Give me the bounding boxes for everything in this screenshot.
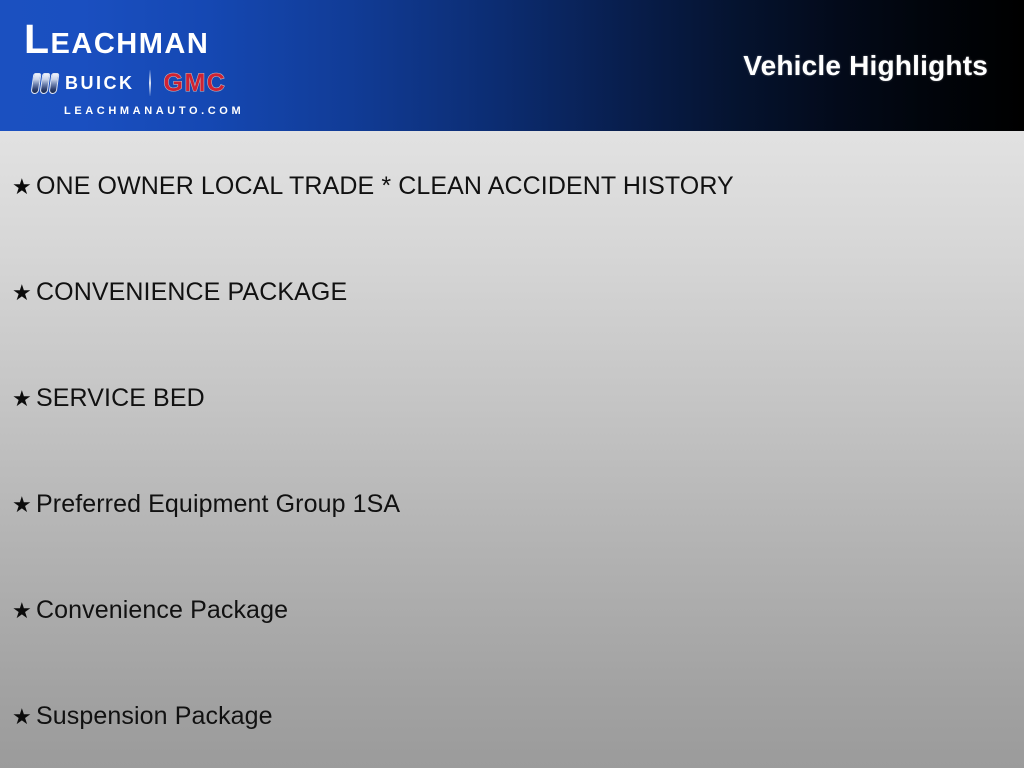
star-bullet-icon: ★ (12, 598, 36, 624)
buick-tri-shield-icon (31, 73, 60, 94)
highlight-text: ONE OWNER LOCAL TRADE * CLEAN ACCIDENT H… (36, 172, 734, 200)
list-item: ★Suspension Package (12, 702, 273, 730)
star-bullet-icon: ★ (12, 492, 36, 518)
list-item: ★ONE OWNER LOCAL TRADE * CLEAN ACCIDENT … (12, 172, 734, 200)
buick-label: BUICK (65, 74, 135, 92)
star-bullet-icon: ★ (12, 704, 36, 730)
star-bullet-icon: ★ (12, 280, 36, 306)
highlight-text: Convenience Package (36, 596, 288, 624)
highlight-text: Suspension Package (36, 702, 273, 730)
page-title: Vehicle Highlights (743, 50, 988, 82)
list-item: ★SERVICE BED (12, 384, 205, 412)
highlight-text: CONVENIENCE PACKAGE (36, 278, 347, 306)
vehicle-highlights-list: ★ONE OWNER LOCAL TRADE * CLEAN ACCIDENT … (0, 131, 1024, 768)
star-bullet-icon: ★ (12, 386, 36, 412)
dealer-wordmark: Leachman (24, 17, 209, 61)
list-item: ★CONVENIENCE PACKAGE (12, 278, 347, 306)
list-item: ★Convenience Package (12, 596, 288, 624)
gmc-label: GMC (164, 71, 227, 96)
buick-brand: BUICK (32, 73, 135, 94)
page-header: Leachman BUICK GMC LEACHMANAUTO.COM Vehi… (0, 0, 1024, 131)
brand-divider (149, 70, 151, 96)
brand-row: BUICK GMC (32, 67, 294, 99)
highlight-text: Preferred Equipment Group 1SA (36, 490, 400, 518)
vehicle-highlights-page: Leachman BUICK GMC LEACHMANAUTO.COM Vehi… (0, 0, 1024, 768)
star-bullet-icon: ★ (12, 174, 36, 200)
list-item: ★Preferred Equipment Group 1SA (12, 490, 400, 518)
dealer-logo[interactable]: Leachman BUICK GMC LEACHMANAUTO.COM (22, 10, 297, 122)
dealer-website-url[interactable]: LEACHMANAUTO.COM (64, 105, 244, 117)
highlight-text: SERVICE BED (36, 384, 205, 412)
